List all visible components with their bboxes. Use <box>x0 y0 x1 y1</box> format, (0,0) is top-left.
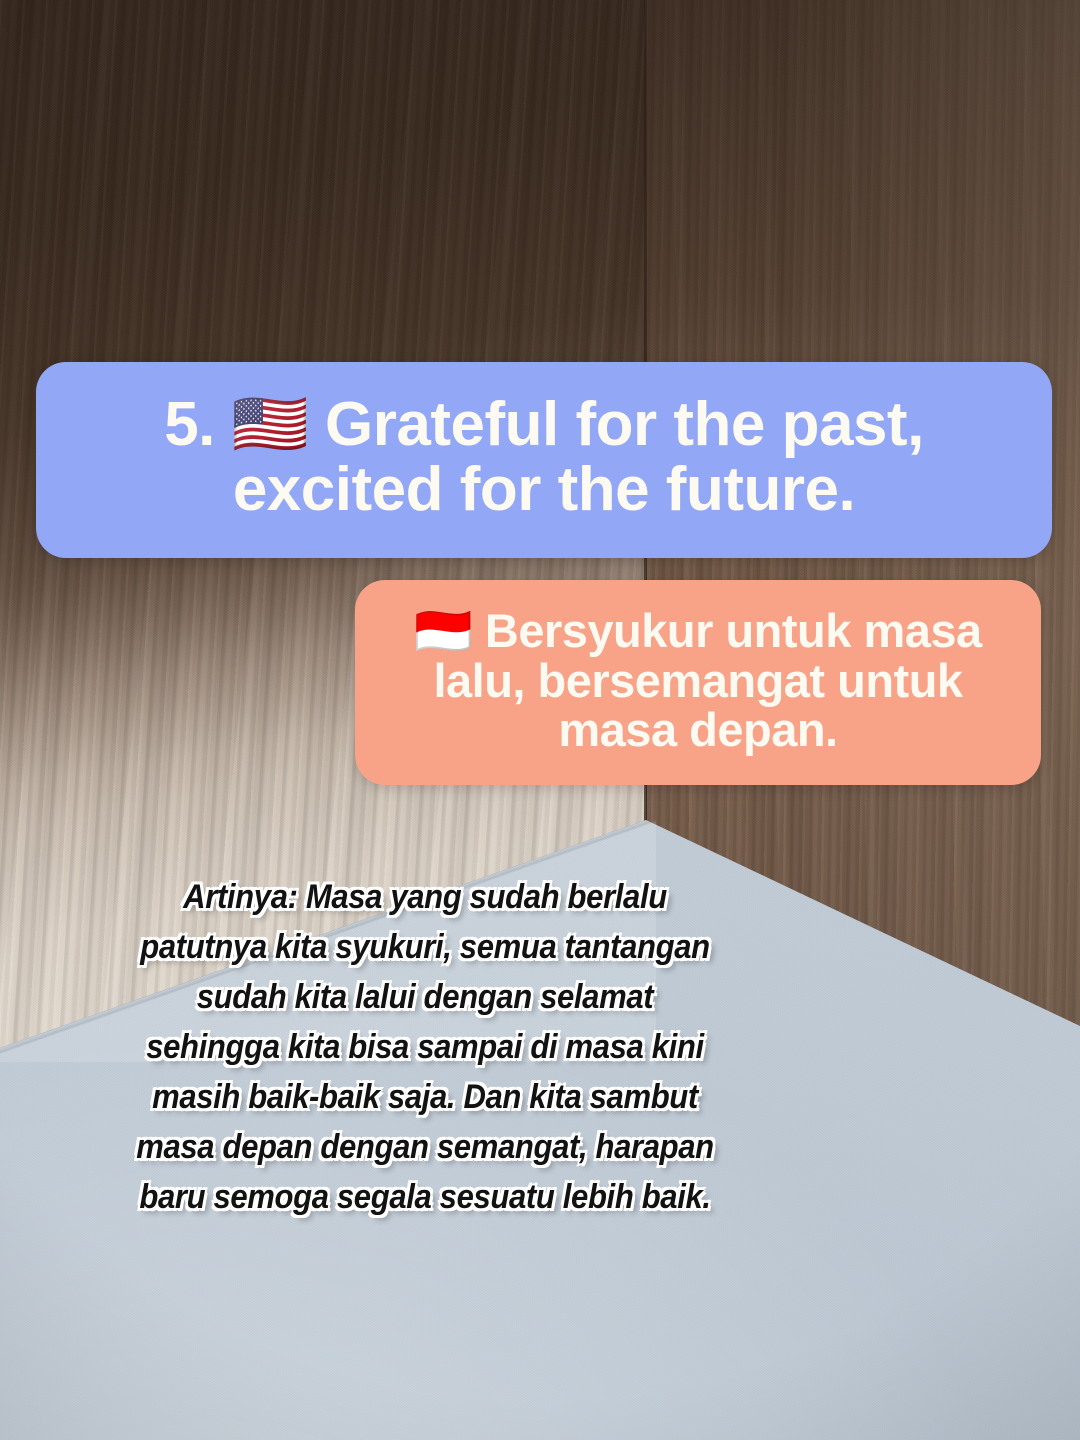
english-caption-banner: 5. 🇺🇸 Grateful for the past, excited for… <box>36 362 1052 558</box>
screenshot-root: 5. 🇺🇸 Grateful for the past, excited for… <box>0 0 1080 1440</box>
meaning-line: patutnya kita syukuri, semua tantangan <box>97 922 754 972</box>
meaning-line: sudah kita lalui dengan selamat <box>97 972 754 1022</box>
indonesian-caption-banner: 🇮🇩 Bersyukur untuk masa lalu, bersemanga… <box>355 580 1041 785</box>
indonesian-caption-text: 🇮🇩 Bersyukur untuk masa lalu, bersemanga… <box>375 606 1021 754</box>
meaning-line: masih baik-baik saja. Dan kita sambut <box>97 1072 754 1122</box>
meaning-line: sehingga kita bisa sampai di masa kini <box>97 1022 754 1072</box>
meaning-line: Artinya: Masa yang sudah berlalu <box>97 872 754 922</box>
english-caption-text: 5. 🇺🇸 Grateful for the past, excited for… <box>60 392 1028 522</box>
meaning-line: masa depan dengan semangat, harapan <box>97 1122 754 1172</box>
meaning-paragraph: Artinya: Masa yang sudah berlalu patutny… <box>97 872 754 1222</box>
meaning-line: baru semoga segala sesuatu lebih baik. <box>97 1172 754 1222</box>
